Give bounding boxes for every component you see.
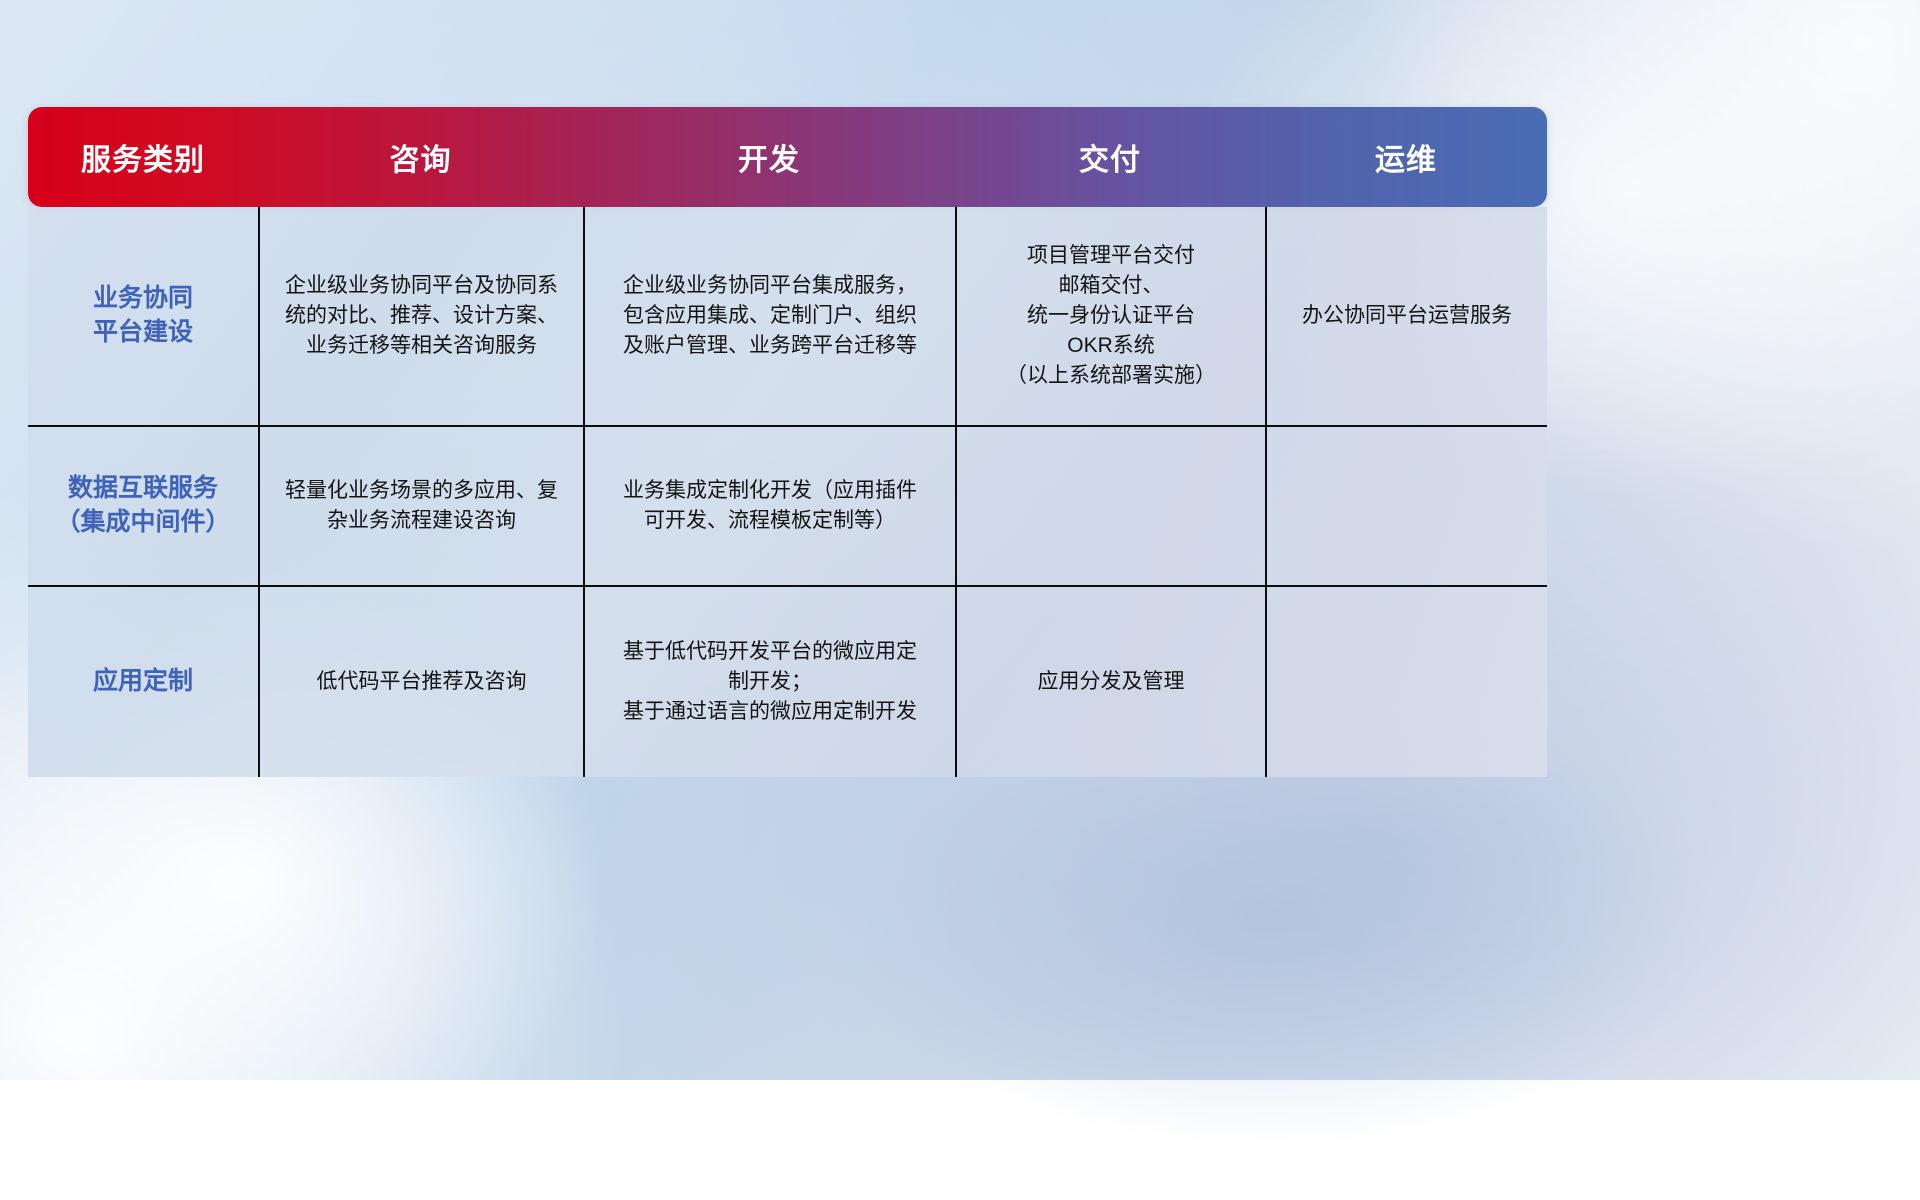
cell-consulting: 低代码平台推荐及咨询 <box>258 587 583 777</box>
row-category-label: 业务协同 平台建设 <box>28 207 258 425</box>
table-header-row: 服务类别 咨询 开发 交付 运维 <box>28 107 1547 207</box>
cell-development: 企业级业务协同平台集成服务， 包含应用集成、定制门户、组织 及账户管理、业务跨平… <box>583 207 955 425</box>
table-row: 业务协同 平台建设 企业级业务协同平台及协同系 统的对比、推荐、设计方案、 业务… <box>28 207 1547 425</box>
service-matrix-table: 服务类别 咨询 开发 交付 运维 业务协同 平台建设 企业级业务协同平台及协同系… <box>28 107 1547 777</box>
cell-delivery: 应用分发及管理 <box>955 587 1265 777</box>
row-category-label: 数据互联服务 （集成中间件） <box>28 427 258 585</box>
header-cell-development: 开发 <box>583 135 955 179</box>
cell-consulting: 轻量化业务场景的多应用、复 杂业务流程建设咨询 <box>258 427 583 585</box>
cell-development: 基于低代码开发平台的微应用定 制开发； 基于通过语言的微应用定制开发 <box>583 587 955 777</box>
header-cell-service-category: 服务类别 <box>28 135 258 179</box>
table-row: 数据互联服务 （集成中间件） 轻量化业务场景的多应用、复 杂业务流程建设咨询 业… <box>28 425 1547 585</box>
table-row: 应用定制 低代码平台推荐及咨询 基于低代码开发平台的微应用定 制开发； 基于通过… <box>28 585 1547 777</box>
cell-operations: 办公协同平台运营服务 <box>1265 207 1547 425</box>
cell-operations <box>1265 587 1547 777</box>
cell-operations <box>1265 427 1547 585</box>
header-cell-consulting: 咨询 <box>258 135 583 179</box>
header-cell-delivery: 交付 <box>955 135 1265 179</box>
cell-delivery <box>955 427 1265 585</box>
row-category-label: 应用定制 <box>28 587 258 777</box>
header-cell-operations: 运维 <box>1265 135 1547 179</box>
table-body: 业务协同 平台建设 企业级业务协同平台及协同系 统的对比、推荐、设计方案、 业务… <box>28 207 1547 777</box>
cell-delivery: 项目管理平台交付 邮箱交付、 统一身份认证平台 OKR系统 （以上系统部署实施） <box>955 207 1265 425</box>
cell-development: 业务集成定制化开发（应用插件 可开发、流程模板定制等） <box>583 427 955 585</box>
cell-consulting: 企业级业务协同平台及协同系 统的对比、推荐、设计方案、 业务迁移等相关咨询服务 <box>258 207 583 425</box>
